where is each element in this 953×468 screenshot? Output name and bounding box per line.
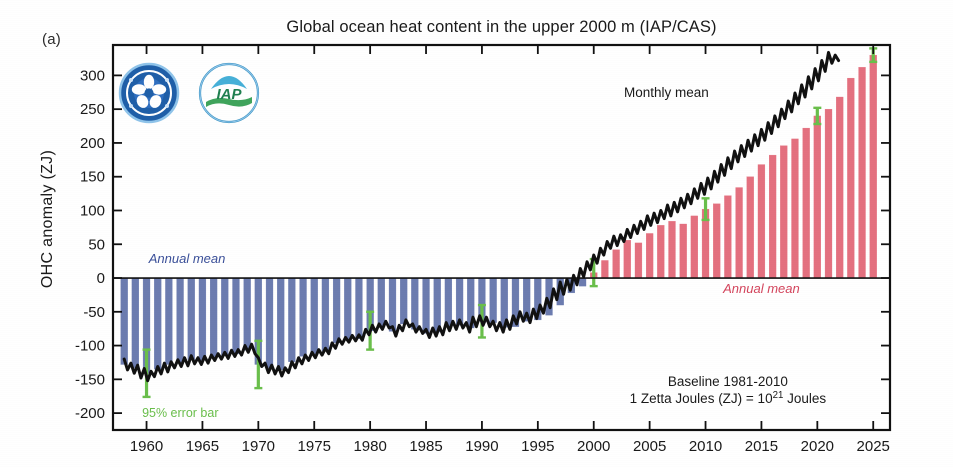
annotation-monthly-mean: Monthly mean: [624, 85, 709, 100]
x-tick-label: 1980: [353, 438, 386, 455]
bar: [445, 278, 452, 327]
y-tick-label: 250: [80, 101, 105, 118]
bar: [758, 165, 765, 278]
bar: [780, 146, 787, 278]
bar: [177, 278, 184, 363]
bar: [814, 116, 821, 278]
bar: [724, 196, 731, 278]
bar: [579, 278, 586, 286]
bar: [646, 233, 653, 278]
x-tick-label: 1995: [521, 438, 554, 455]
bar: [221, 278, 228, 356]
bar: [836, 97, 843, 278]
bar: [389, 278, 396, 331]
x-tick-label: 2015: [745, 438, 778, 455]
y-tick-label: -100: [75, 338, 105, 355]
bar: [423, 278, 430, 333]
bar: [691, 216, 698, 278]
bar: [266, 278, 273, 368]
bar: [613, 250, 620, 278]
bar: [859, 67, 866, 278]
x-tick-label: 2005: [633, 438, 666, 455]
bar: [736, 188, 743, 279]
y-tick-label: -150: [75, 371, 105, 388]
bar: [713, 204, 720, 278]
y-tick-label: 50: [88, 236, 105, 253]
bar: [154, 278, 161, 369]
bar: [680, 224, 687, 278]
bar: [288, 278, 295, 362]
bar: [747, 177, 754, 278]
bar: [792, 139, 799, 278]
bar: [300, 278, 307, 356]
bar: [188, 278, 195, 360]
annotation-baseline-note: Baseline 1981-2010: [668, 374, 788, 389]
bar: [244, 278, 251, 350]
x-tick-label: 2025: [857, 438, 890, 455]
bar: [870, 55, 877, 278]
bar: [378, 278, 385, 327]
bar: [847, 78, 854, 278]
bar: [657, 225, 664, 278]
y-tick-label: -200: [75, 405, 105, 422]
x-tick-label: 2020: [801, 438, 834, 455]
bar: [322, 278, 329, 351]
chart-figure: (a) Global ocean heat content in the upp…: [0, 0, 953, 468]
x-tick-label: 1985: [409, 438, 442, 455]
bar: [233, 278, 240, 354]
bar: [277, 278, 284, 370]
annotation-annual-mean-negative: Annual mean: [148, 251, 226, 266]
x-tick-label: 1965: [186, 438, 219, 455]
y-tick-label: 200: [80, 135, 105, 152]
bar: [199, 278, 206, 360]
annotation-error-bar-note: 95% error bar: [142, 406, 218, 420]
y-tick-label: 300: [80, 67, 105, 84]
bar: [635, 243, 642, 278]
bar: [333, 278, 340, 343]
bar: [165, 278, 172, 364]
bar: [400, 278, 407, 324]
bar: [490, 278, 497, 323]
bar: [669, 221, 676, 278]
bar: [456, 278, 463, 325]
bar: [210, 278, 217, 358]
x-tick-label: 2000: [577, 438, 610, 455]
svg-text:IAP: IAP: [216, 86, 242, 103]
annotation-annual-mean-positive: Annual mean: [722, 281, 800, 296]
bar: [344, 278, 351, 340]
x-tick-label: 2010: [689, 438, 722, 455]
bar: [624, 240, 631, 278]
bar: [121, 278, 128, 364]
bar: [803, 128, 810, 278]
y-tick-label: -50: [83, 304, 105, 321]
x-tick-label: 1970: [242, 438, 275, 455]
bar: [434, 278, 441, 332]
y-tick-label: 150: [80, 169, 105, 186]
bar: [311, 278, 318, 354]
bar: [411, 278, 418, 329]
bar: [769, 155, 776, 278]
bar: [132, 278, 139, 368]
x-tick-label: 1975: [298, 438, 331, 455]
y-tick-label: 100: [80, 202, 105, 219]
bar: [601, 260, 608, 278]
bar: [825, 109, 832, 278]
annotation-unit-note: 1 Zetta Joules (ZJ) = 1021 Joules: [630, 389, 827, 406]
bar: [355, 278, 362, 339]
y-tick-label: 0: [97, 270, 105, 287]
x-tick-label: 1960: [130, 438, 163, 455]
x-tick-label: 1990: [465, 438, 498, 455]
